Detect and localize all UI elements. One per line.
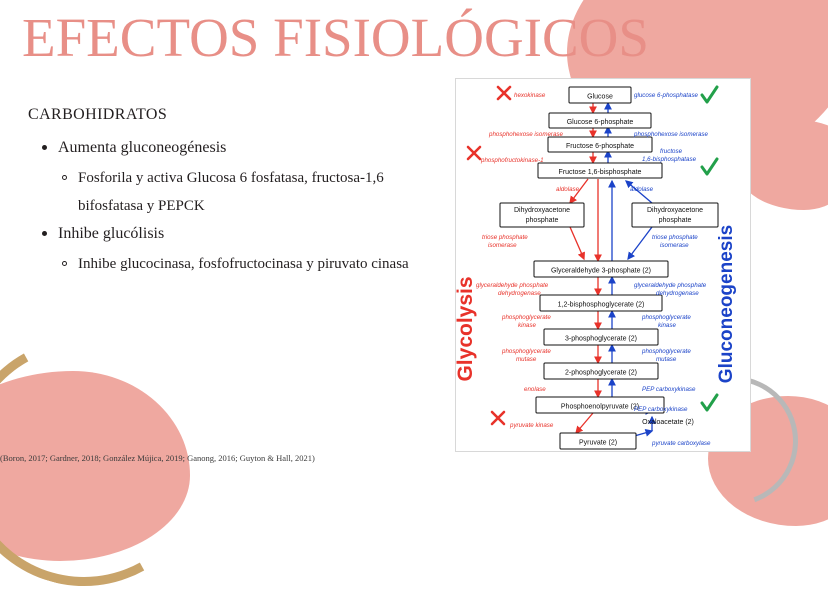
cross-icon — [468, 147, 480, 159]
enzyme-label: PEP carboxykinase — [642, 386, 696, 393]
metabolite-label: 2-phosphoglycerate (2) — [565, 370, 637, 377]
metabolite-label: Glucose — [587, 94, 613, 101]
enzyme-label: PEP carboxykinase — [634, 406, 688, 413]
enzyme-label: pyruvate carboxylase — [651, 440, 711, 447]
list-item: Aumenta gluconeogénesis — [42, 136, 446, 161]
enzyme-label: isomerase — [660, 242, 689, 249]
enzyme-label: phosphoglycerate — [501, 348, 551, 355]
check-icon — [702, 87, 717, 102]
enzyme-label: hexokinase — [514, 92, 546, 99]
check-icon — [702, 395, 717, 410]
pathway-label-glycolysis: Glycolysis — [456, 276, 477, 381]
enzyme-label: aldolase — [630, 186, 654, 193]
metabolite-label: phosphate — [659, 217, 692, 224]
list-item: Fosforila y activa Glucosa 6 fosfatasa, … — [62, 165, 446, 221]
decorative-blob-bottom-left — [0, 371, 190, 561]
pathway-label-gluconeogenesis: Gluconeogenesis — [716, 225, 737, 383]
metabolite-label: Pyruvate (2) — [579, 440, 617, 447]
metabolite-label: Dihydroxyacetone — [514, 207, 570, 214]
metabolite-label: Dihydroxyacetone — [647, 207, 703, 214]
enzyme-label: fructose — [660, 148, 683, 155]
enzyme-label: phosphoglycerate — [641, 348, 691, 355]
enzyme-label: phosphofructokinase-1 — [480, 157, 544, 164]
enzyme-label: phosphoglycerate — [641, 314, 691, 321]
enzyme-label: enolase — [524, 386, 546, 393]
metabolite-label: Glucose 6-phosphate — [567, 119, 634, 126]
glycolysis-gluconeogenesis-diagram: Glucose Glucose 6-phosphate Fructose 6-p… — [455, 78, 751, 452]
enzyme-label: mutase — [516, 356, 537, 363]
cross-icon — [498, 87, 510, 99]
section-heading: CARBOHIDRATOS — [28, 106, 446, 124]
enzyme-label: triose phosphate — [652, 234, 698, 241]
enzyme-label: glucose 6-phosphatase — [634, 92, 699, 99]
enzyme-label: kinase — [518, 322, 536, 329]
enzyme-label: isomerase — [488, 242, 517, 249]
page-title: EFECTOS FISIOLÓGICOS — [22, 6, 649, 69]
decorative-blob-right — [738, 120, 828, 210]
enzyme-label: phosphoglycerate — [501, 314, 551, 321]
enzyme-label: glyceraldehyde phosphate — [476, 282, 549, 289]
cross-icon — [492, 412, 504, 424]
enzyme-label: triose phosphate — [482, 234, 528, 241]
metabolite-label: phosphate — [526, 217, 559, 224]
enzyme-label: kinase — [658, 322, 676, 329]
enzyme-label: mutase — [656, 356, 677, 363]
citation-footer: (Boron, 2017; Gardner, 2018; González Mú… — [0, 453, 315, 463]
enzyme-label: phosphohexose isomerase — [633, 131, 709, 138]
enzyme-label: pyruvate kinase — [509, 422, 554, 429]
metabolite-label: Fructose 1,6-bisphosphate — [559, 169, 642, 176]
metabolite-label: Oxaloacetate (2) — [642, 419, 694, 426]
metabolite-label: 3-phosphoglycerate (2) — [565, 336, 637, 343]
enzyme-label: phosphohexose isomerase — [488, 131, 564, 138]
enzyme-label: aldolase — [556, 186, 580, 193]
enzyme-label: glyceraldehyde phosphate — [634, 282, 707, 289]
enzyme-label: dehydrogenase — [498, 290, 541, 297]
list-item: Inhibe glucólisis — [42, 222, 446, 247]
bullet-list: Aumenta gluconeogénesis Fosforila y acti… — [26, 136, 446, 279]
list-item: Inhibe glucocinasa, fosfofructocinasa y … — [62, 251, 446, 279]
metabolite-label: Phosphoenolpyruvate (2) — [561, 404, 639, 411]
enzyme-label: 1,6-bisphosphatase — [642, 156, 697, 163]
check-icon — [702, 159, 717, 174]
metabolite-label: 1,2-bisphosphoglycerate (2) — [558, 302, 645, 309]
enzyme-label: dehydrogenase — [656, 290, 699, 297]
slide-content: CARBOHIDRATOS Aumenta gluconeogénesis Fo… — [26, 106, 446, 281]
metabolite-label: Glyceraldehyde 3-phosphate (2) — [551, 268, 651, 275]
metabolite-label: Fructose 6-phosphate — [566, 143, 634, 150]
